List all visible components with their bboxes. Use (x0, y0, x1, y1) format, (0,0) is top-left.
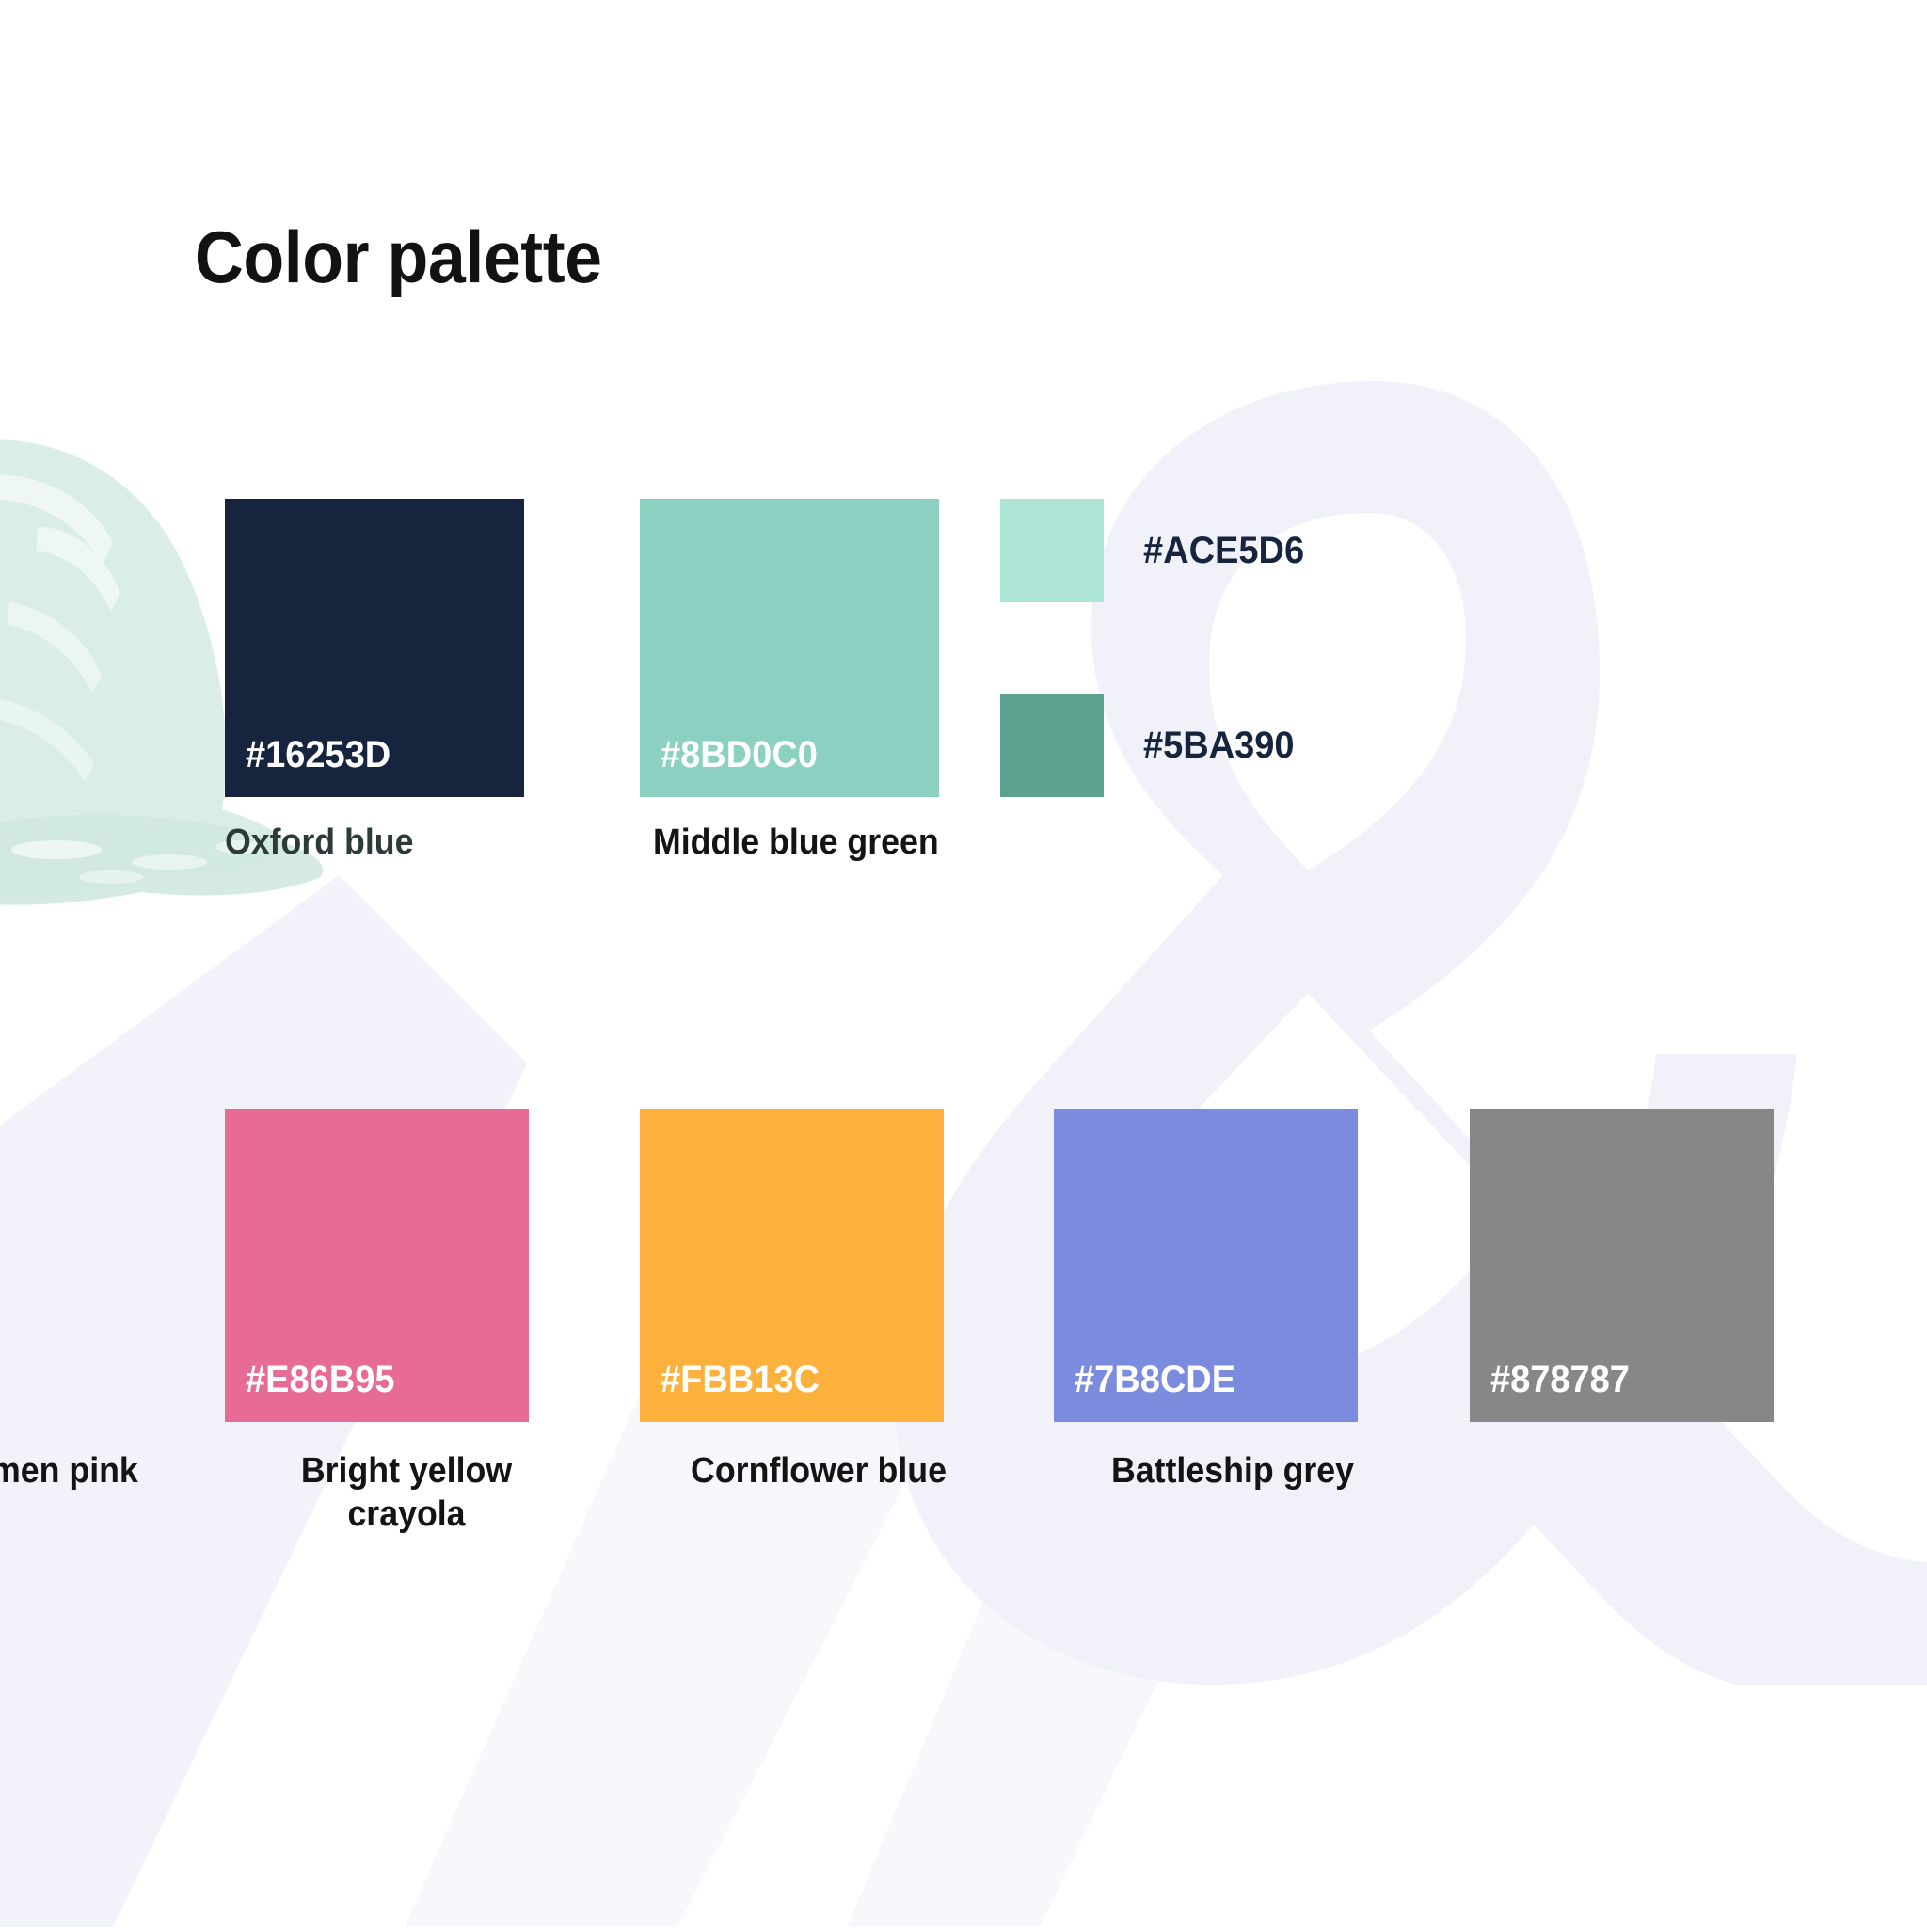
page-title: Color palette (195, 215, 602, 300)
caption-line-1: Bright yellow (256, 1449, 557, 1493)
swatch-caption-battleship-grey: Battleship grey (1082, 1449, 1383, 1493)
mini-swatch-row-ace5d6[interactable]: #ACE5D6 (1000, 499, 1313, 602)
swatch-hex-label: #FBB13C (661, 1359, 820, 1401)
swatch-bright-yellow-crayola[interactable]: #FBB13C (640, 1109, 944, 1422)
swatch-hex-label: #878787 (1490, 1359, 1630, 1401)
swatch-hex-label: #16253D (246, 734, 390, 776)
mini-swatch-chip-ace5d6[interactable] (1000, 499, 1104, 602)
swatch-hex-label: #8BD0C0 (661, 734, 818, 776)
mini-swatch-label-ace5d6: #ACE5D6 (1143, 530, 1304, 572)
swatch-hex-label: #E86B95 (246, 1359, 394, 1401)
swatch-middle-blue-green[interactable]: #8BD0C0 (640, 499, 939, 797)
caption-line-2: crayola (256, 1493, 557, 1536)
mini-swatch-row-5ba390[interactable]: #5BA390 (1000, 694, 1302, 797)
swatch-battleship-grey[interactable]: #878787 (1470, 1109, 1774, 1422)
mini-swatch-chip-5ba390[interactable] (1000, 694, 1104, 797)
mini-swatch-label-5ba390: #5BA390 (1143, 725, 1295, 767)
swatch-caption-middle-blue-green: Middle blue green (653, 821, 1025, 864)
swatch-caption-cornflower-blue: Cornflower blue (668, 1449, 969, 1493)
swatch-caption-carmen-pink-clipped: men pink (0, 1449, 220, 1493)
swatch-caption-bright-yellow-crayola: Bright yellow crayola (256, 1449, 557, 1537)
swatch-carmen-pink[interactable]: #E86B95 (225, 1109, 529, 1422)
swatch-oxford-blue[interactable]: #16253D (225, 499, 524, 797)
swatch-hex-label: #7B8CDE (1075, 1359, 1235, 1401)
swatch-caption-oxford-blue: Oxford blue (225, 821, 526, 864)
swatch-cornflower-blue[interactable]: #7B8CDE (1054, 1109, 1358, 1422)
